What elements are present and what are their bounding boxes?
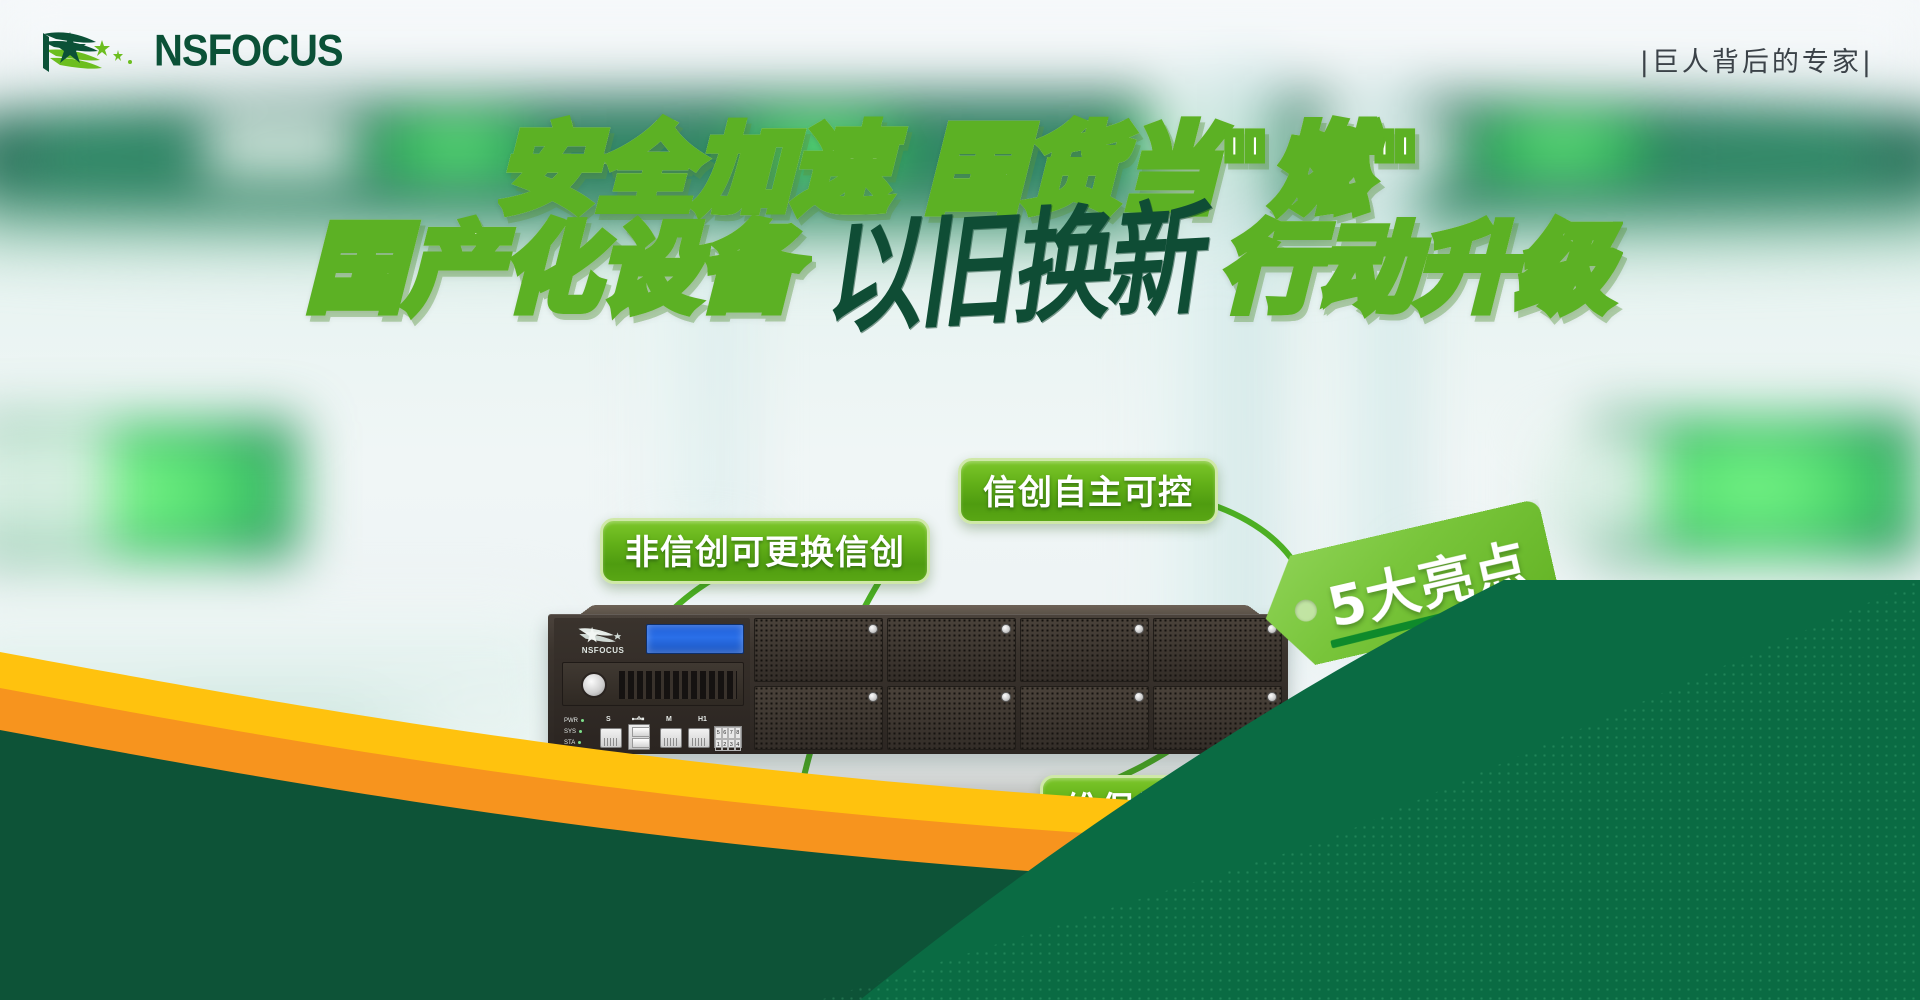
brand-name: NSFOCUS [154, 26, 343, 76]
operator-monitor [1540, 430, 1660, 545]
headline-line-2-prefix: 国产化设备 [307, 219, 797, 320]
headline-line-2-row: 国产化设备 以旧换新 行动升级 [0, 219, 1920, 320]
headline-brush-calligraphy: 以旧换新 [818, 201, 1200, 337]
headline-block: 安全加速 国货当"燃" 国产化设备 以旧换新 行动升级 [0, 120, 1920, 320]
badge-replace-with-xinchuang[interactable]: 非信创可更换信创 [600, 518, 930, 584]
wave-green-right [860, 580, 1920, 1000]
nsfocus-flag-star-logo [40, 28, 140, 74]
decorative-waves [0, 580, 1920, 1000]
headline-line-2-suffix: 行动升级 [1221, 219, 1613, 320]
badge-xinchuang-autonomous[interactable]: 信创自主可控 [958, 458, 1218, 524]
operator-monitor [0, 430, 110, 550]
brand-tagline: |巨人背后的专家| [1640, 40, 1874, 79]
banner-canvas: NSFOCUS |巨人背后的专家| 安全加速 国货当"燃" 国产化设备 以旧换新… [0, 0, 1920, 1000]
brand-logo[interactable]: NSFOCUS [40, 28, 343, 74]
